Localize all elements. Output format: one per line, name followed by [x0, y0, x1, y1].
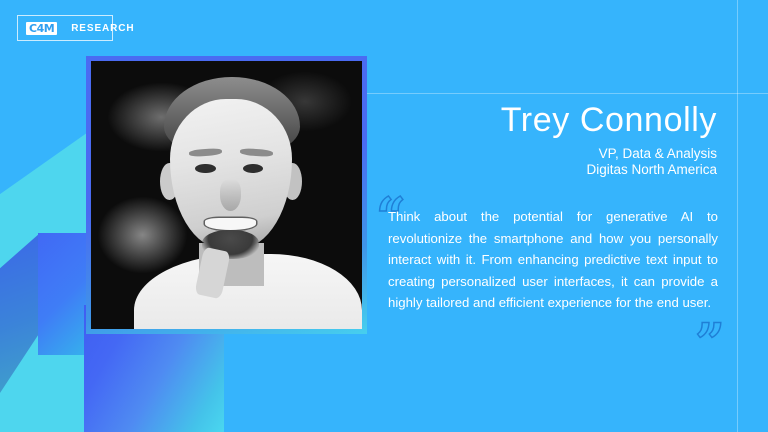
vertical-rule — [737, 0, 738, 432]
horizontal-rule — [367, 93, 768, 94]
speaker-identity-block: Trey Connolly VP, Data & Analysis Digita… — [380, 100, 717, 178]
brand-mark-icon: C4M — [26, 22, 57, 35]
speaker-photo — [91, 61, 362, 329]
brand-word-label: RESEARCH — [71, 23, 134, 34]
closing-quote-icon: ” — [695, 318, 725, 370]
quote-block: Think about the potential for generative… — [388, 206, 718, 314]
speaker-quote-slide: C4M RESEARCH Trey Connolly — [0, 0, 768, 432]
speaker-role: VP, Data & Analysis — [380, 146, 717, 162]
quote-text: Think about the potential for generative… — [388, 206, 718, 314]
speaker-name: Trey Connolly — [380, 100, 717, 140]
brand-logo-badge[interactable]: C4M RESEARCH — [17, 15, 113, 41]
speaker-company: Digitas North America — [380, 162, 717, 178]
speaker-photo-frame — [86, 56, 367, 334]
photo-bokeh-2 — [96, 195, 188, 275]
